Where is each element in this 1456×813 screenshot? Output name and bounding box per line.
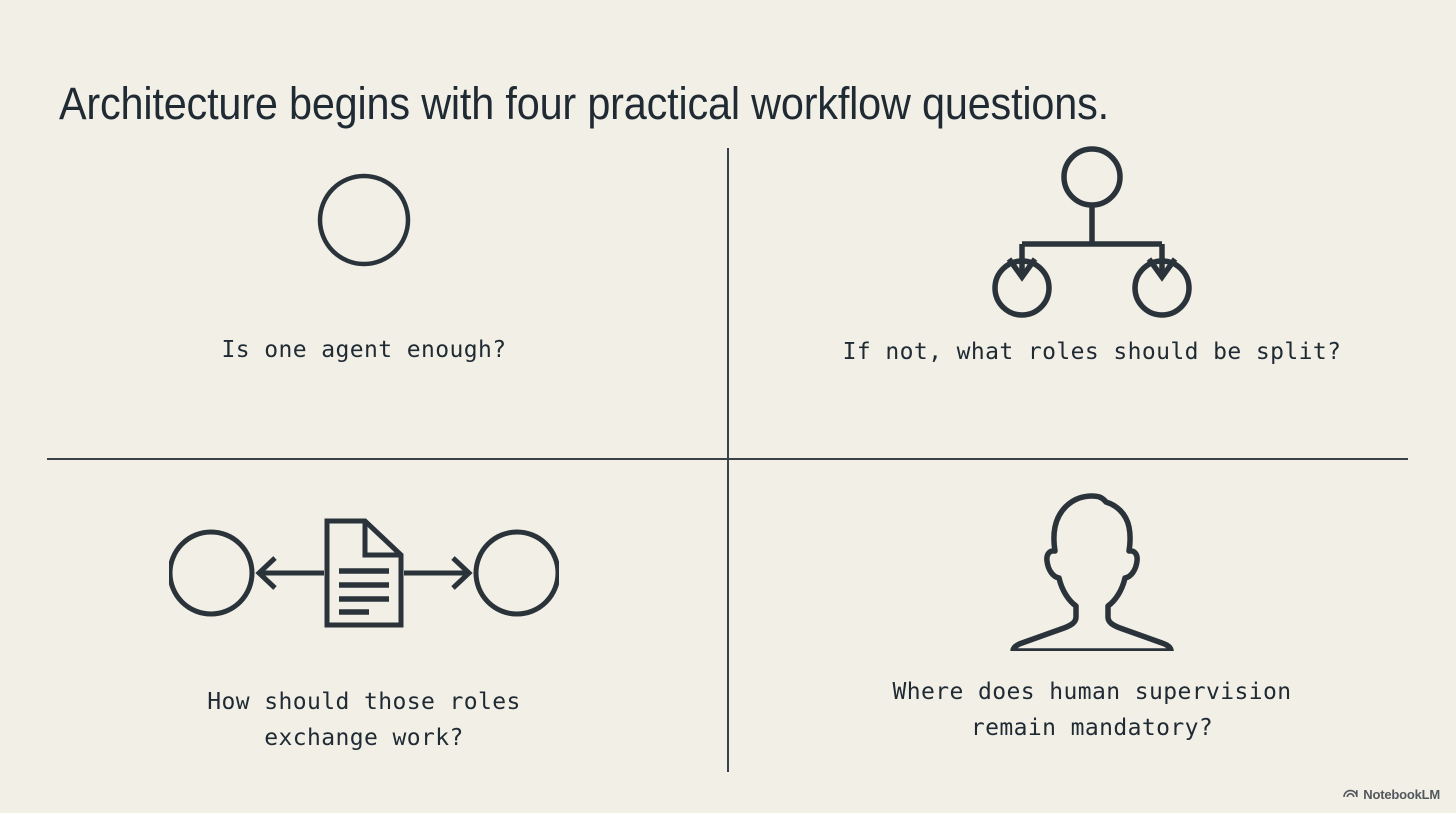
document-exchange-icon [169, 510, 559, 636]
quadrant-grid: Is one agent enough? [0, 132, 1456, 780]
quadrant-human-supervision: Where does human supervision remain mand… [728, 458, 1456, 780]
notebooklm-label: NotebookLM [1363, 787, 1440, 802]
page-title: Architecture begins with four practical … [59, 74, 1292, 134]
person-silhouette-icon [1002, 486, 1182, 656]
agent-tree-split-icon [992, 140, 1192, 322]
notebooklm-arc-icon [1343, 785, 1358, 803]
quadrant-caption: How should those roles exchange work? [207, 684, 520, 756]
quadrant-caption: If not, what roles should be split? [843, 334, 1342, 370]
quadrant-work-exchange: How should those roles exchange work? [0, 458, 728, 780]
quadrant-role-split: If not, what roles should be split? [728, 132, 1456, 458]
quadrant-caption: Is one agent enough? [222, 332, 507, 368]
single-circle-icon [312, 160, 416, 280]
quadrant-single-agent: Is one agent enough? [0, 132, 728, 458]
quadrant-caption: Where does human supervision remain mand… [893, 674, 1292, 746]
notebooklm-watermark: NotebookLM [1343, 785, 1440, 803]
slide-canvas: Architecture begins with four practical … [0, 0, 1456, 813]
